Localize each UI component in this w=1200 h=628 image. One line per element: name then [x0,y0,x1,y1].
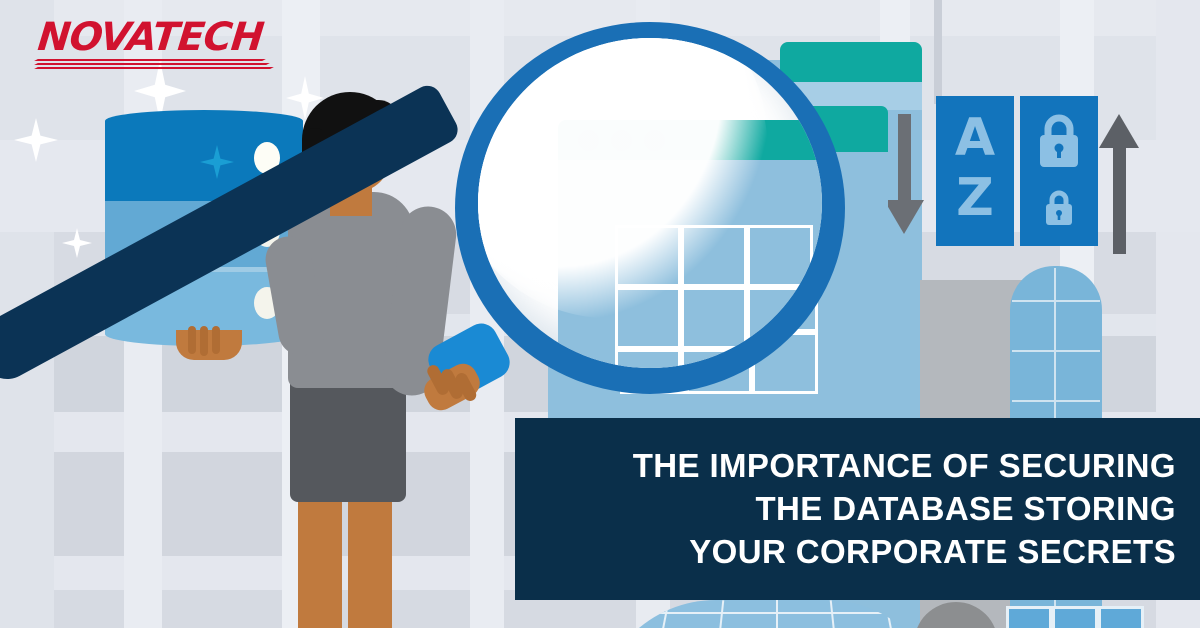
lock-large-icon [1034,112,1084,170]
magnified-cell [747,349,813,368]
novatech-logo[interactable]: NOVATECH [38,18,270,72]
finger [200,326,208,356]
bottom-cell [1006,606,1052,628]
finger [212,326,220,354]
lock-small-icon [1042,188,1076,228]
magnified-cell [681,287,747,349]
magnified-cell [747,287,813,349]
bottom-cell [1052,606,1098,628]
magnified-cell [681,349,747,368]
leg-right [348,480,392,628]
headline-line-1: THE IMPORTANCE OF SECURING [515,444,1200,487]
bottom-cell [1098,606,1144,628]
logo-speed-lines [36,59,272,72]
headline-panel: THE IMPORTANCE OF SECURING THE DATABASE … [515,418,1200,600]
tower-line [1012,300,1100,302]
bg-post [934,0,942,104]
tower-line [1012,400,1100,402]
sort-card: A Z [936,96,1014,246]
headline-line-3: YOUR CORPORATE SECRETS [515,530,1200,573]
magnifier-lens [478,38,822,368]
tower-line [1012,350,1100,352]
lock-card [1020,96,1098,246]
finger [188,326,196,354]
skirt [290,376,406,502]
sort-letter-z: Z [936,170,1014,226]
server-rack-top [780,42,922,82]
magnified-cell [615,349,681,368]
magnified-cell [747,225,813,287]
promo-banner: A Z [0,0,1200,628]
leg-left [298,480,342,628]
sort-letter-a: A [936,110,1014,166]
headline-line-2: THE DATABASE STORING [515,487,1200,530]
logo-wordmark: NOVATECH [36,18,272,58]
left-hand [176,330,242,360]
